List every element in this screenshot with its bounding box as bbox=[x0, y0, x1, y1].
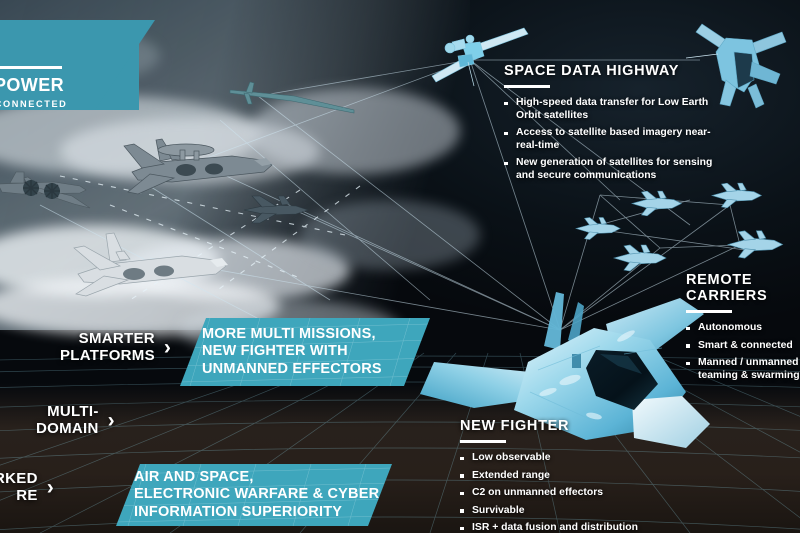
pillar-label: RKED RE bbox=[0, 470, 38, 504]
info-block-space-data-highway: SPACE DATA HIGHWAY High-speed data trans… bbox=[504, 63, 714, 188]
pillar-row-smarter-platforms: SMARTER PLATFORMS › bbox=[60, 330, 180, 364]
brand-subtitle: - CONNECTED bbox=[0, 99, 67, 109]
info-title: NEW FIGHTER bbox=[460, 418, 690, 434]
info-rule bbox=[460, 440, 506, 443]
pillar-statement-multi-domain[interactable]: AIR AND SPACE, ELECTRONIC WARFARE & CYBE… bbox=[116, 464, 392, 526]
info-block-new-fighter: NEW FIGHTER Low observable Extended rang… bbox=[460, 418, 690, 533]
pillar-statement-text: AIR AND SPACE, ELECTRONIC WARFARE & CYBE… bbox=[116, 469, 384, 522]
brand-title: POWER bbox=[0, 75, 64, 96]
info-rule bbox=[686, 310, 732, 313]
info-bullet: Smart & connected bbox=[686, 340, 800, 353]
info-title: SPACE DATA HIGHWAY bbox=[504, 63, 714, 79]
info-bullet: Manned / unmanned teaming & swarming bbox=[686, 357, 800, 382]
turboprop-transport-aircraft bbox=[0, 166, 104, 218]
info-bullet-list: Autonomous Smart & connected Manned / un… bbox=[686, 322, 800, 382]
info-bullet: New generation of satellites for sensing… bbox=[504, 157, 714, 182]
pillar-statement-text: MORE MULTI MISSIONS, NEW FIGHTER WITH UN… bbox=[180, 326, 382, 379]
info-title: REMOTE CARRIERS bbox=[686, 272, 800, 304]
pillar-label: MULTI- DOMAIN bbox=[36, 403, 99, 437]
info-bullet: Low observable bbox=[460, 452, 690, 465]
fighter-jet bbox=[238, 190, 316, 232]
info-bullet: Extended range bbox=[460, 470, 690, 483]
high-altitude-uav bbox=[228, 76, 358, 120]
infographic-canvas: POWER - CONNECTED SPACE DATA HIGHWAY Hig… bbox=[0, 0, 800, 533]
info-rule bbox=[504, 85, 550, 88]
info-bullet: Survivable bbox=[460, 505, 690, 518]
info-bullet-list: High-speed data transfer for Low Earth O… bbox=[504, 97, 714, 183]
info-bullet: Autonomous bbox=[686, 322, 800, 335]
chevron-right-icon: › bbox=[47, 477, 54, 498]
tanker-transport-aircraft bbox=[64, 226, 244, 304]
chevron-right-icon: › bbox=[108, 410, 115, 431]
pillar-label: SMARTER PLATFORMS bbox=[60, 330, 155, 364]
remote-carrier-drones bbox=[556, 172, 800, 276]
info-bullet: High-speed data transfer for Low Earth O… bbox=[504, 97, 714, 122]
pillar-row-multi-domain: MULTI- DOMAIN › bbox=[36, 403, 124, 437]
info-block-remote-carriers: REMOTE CARRIERS Autonomous Smart & conne… bbox=[686, 272, 800, 387]
info-bullet: ISR + data fusion and distribution bbox=[460, 522, 690, 533]
pillar-statement-smarter-platforms[interactable]: MORE MULTI MISSIONS, NEW FIGHTER WITH UN… bbox=[180, 318, 430, 386]
brand-plate-corner bbox=[95, 20, 155, 110]
info-bullet-list: Low observable Extended range C2 on unma… bbox=[460, 452, 690, 533]
chevron-right-icon: › bbox=[164, 337, 171, 358]
info-bullet: C2 on unmanned effectors bbox=[460, 487, 690, 500]
info-bullet: Access to satellite based imagery near-r… bbox=[504, 127, 714, 152]
pillar-row-networked-infrastructure: RKED RE › bbox=[0, 470, 63, 504]
brand-rule bbox=[0, 66, 62, 69]
